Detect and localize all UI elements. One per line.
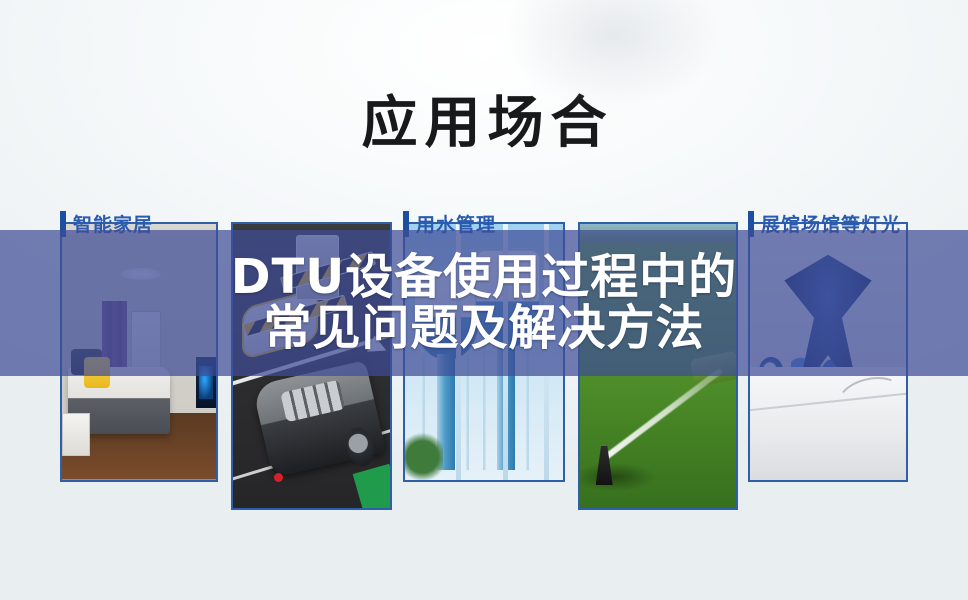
overlay-banner: DTU设备使用过程中的 常见问题及解决方法 <box>0 230 968 376</box>
banner-line-2: 常见问题及解决方法 <box>263 303 704 354</box>
water-jet <box>600 367 723 462</box>
foliage <box>403 429 443 482</box>
ground-shadow <box>578 463 655 491</box>
presentation-slide: 应用场合 <box>0 0 968 600</box>
grass-patch <box>352 464 392 510</box>
tail-light <box>274 473 283 482</box>
car <box>252 360 386 477</box>
nightstand <box>62 413 90 456</box>
banner-line-1: DTU设备使用过程中的 <box>231 252 738 303</box>
